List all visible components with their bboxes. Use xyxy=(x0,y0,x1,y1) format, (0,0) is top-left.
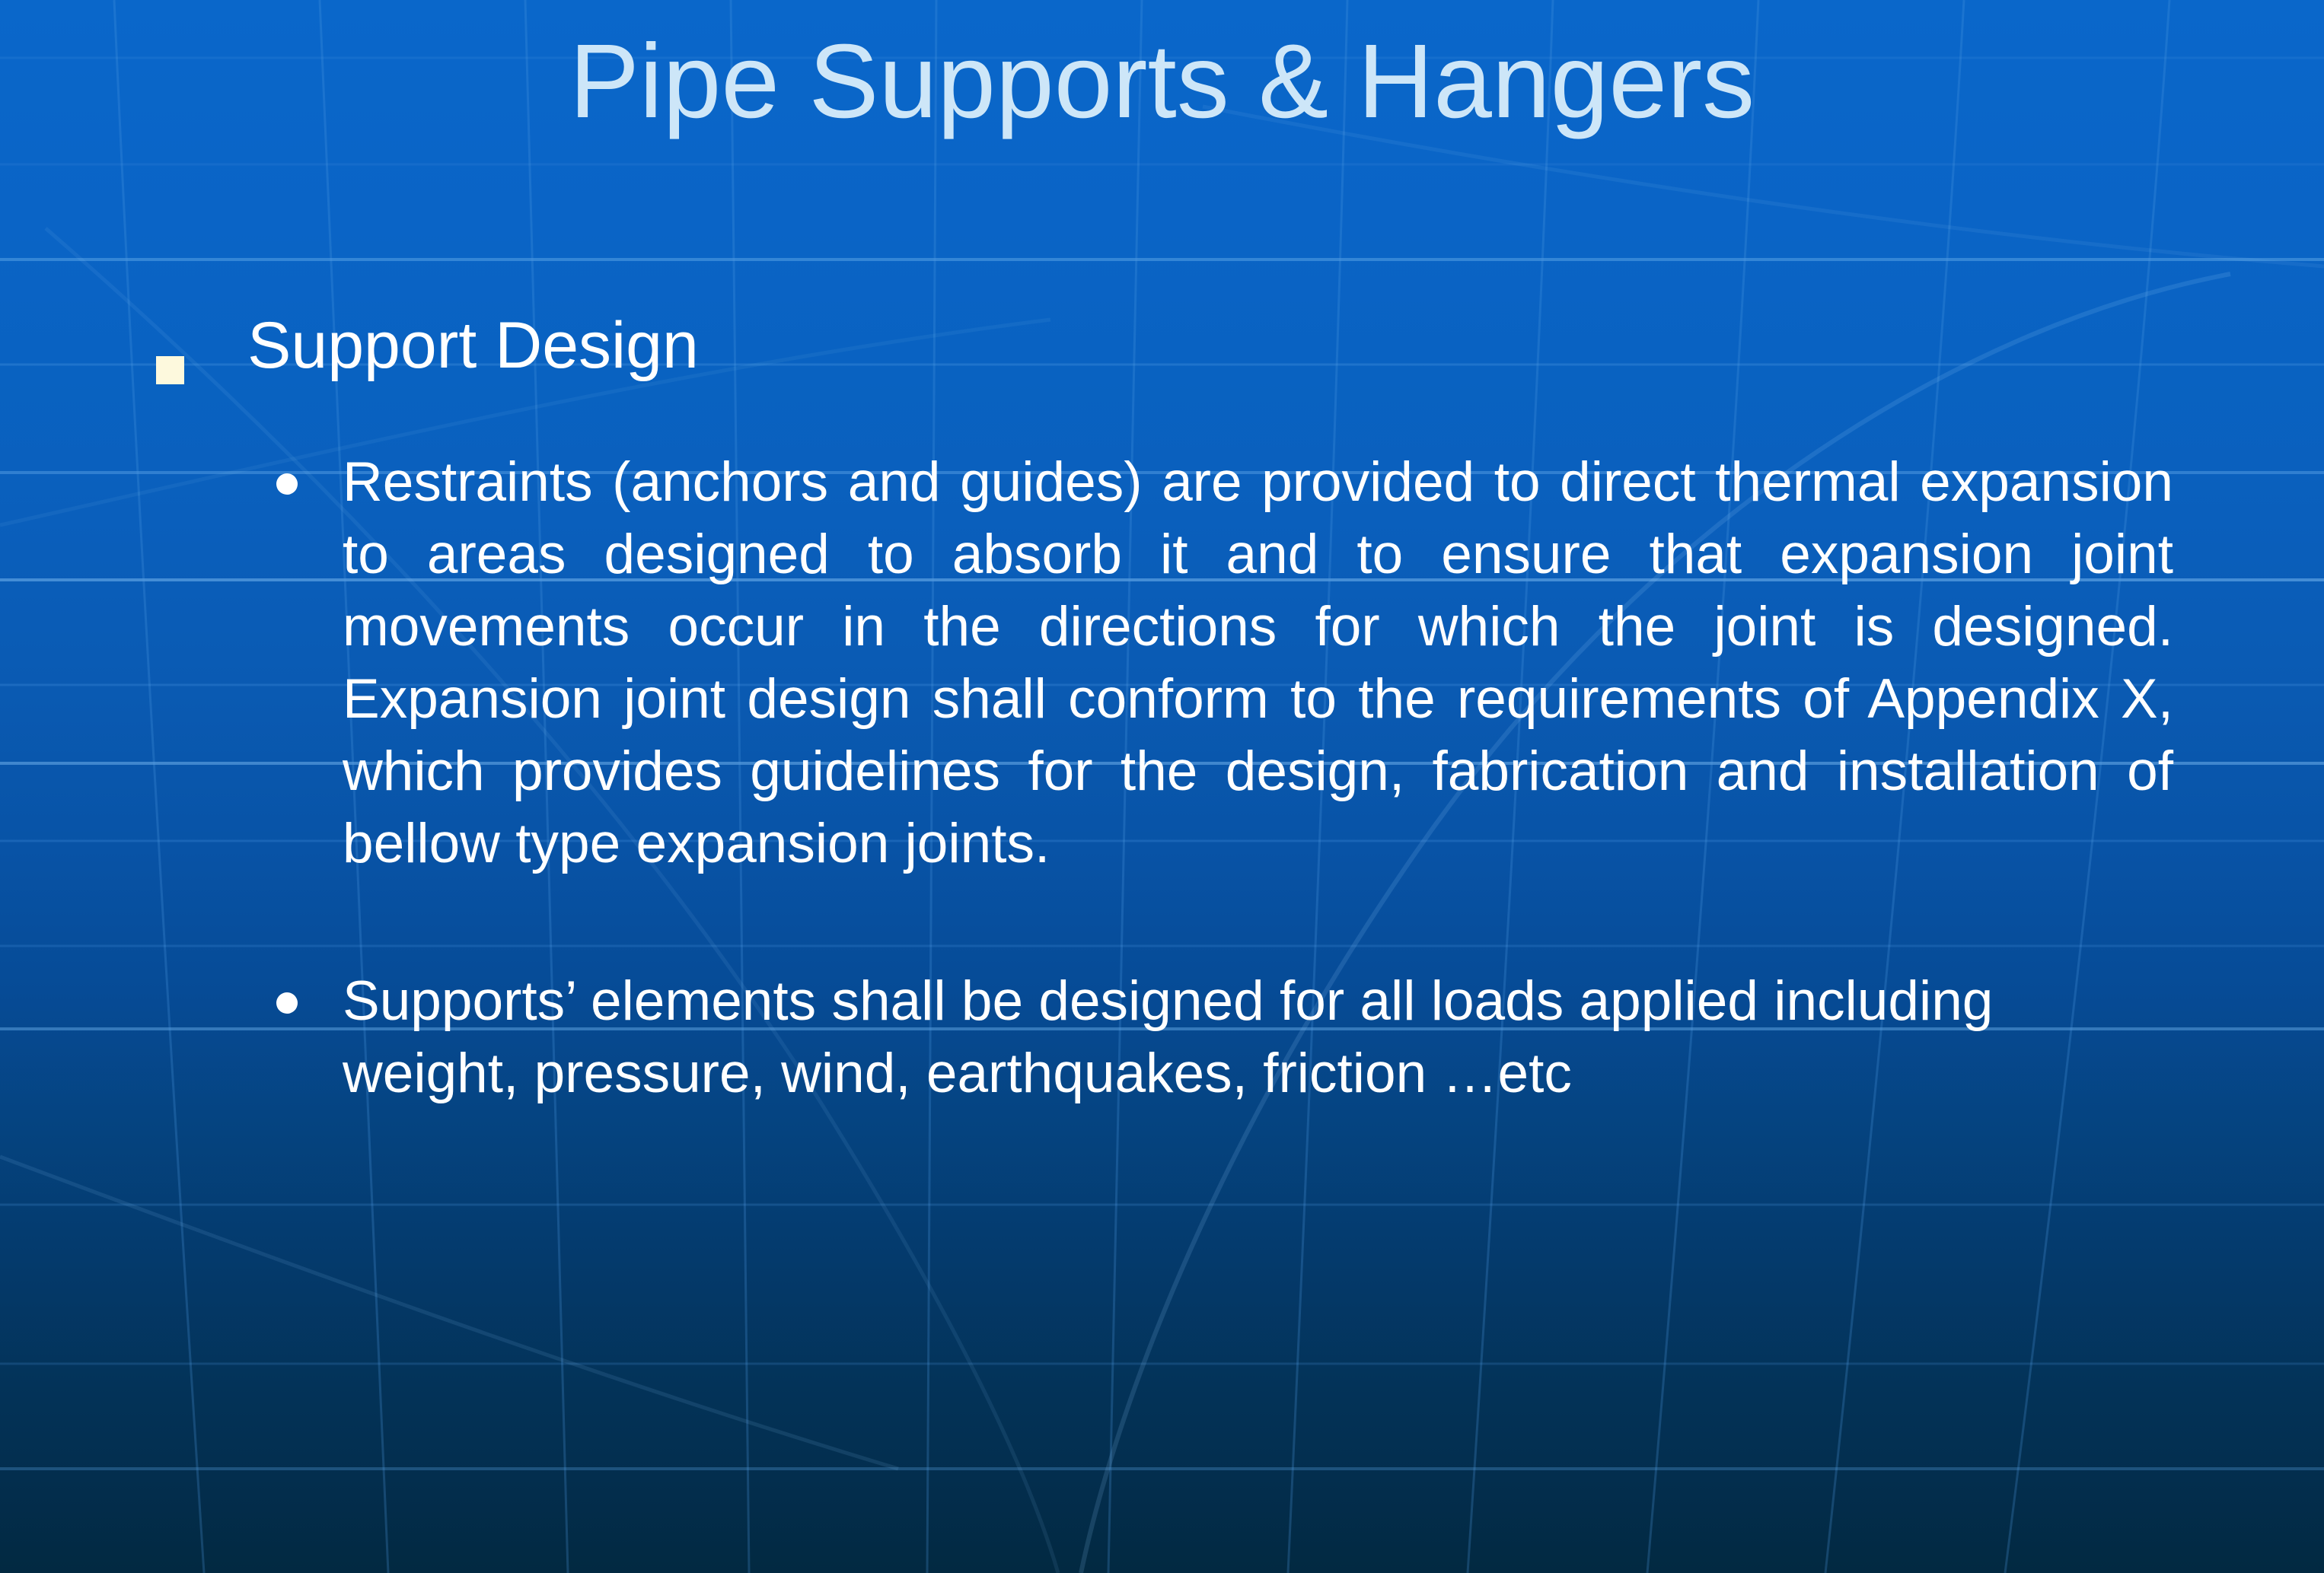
list-item-text: Supports’ elements shall be designed for… xyxy=(343,970,1993,1104)
slide-title-block: Pipe Supports & Hangers xyxy=(0,29,2324,134)
presentation-slide: Pipe Supports & Hangers Support Design R… xyxy=(0,0,2324,1573)
list-item: Restraints (anchors and guides) are prov… xyxy=(263,447,2173,880)
slide-body: Support Design Restraints (anchors and g… xyxy=(148,312,2173,1166)
page-title: Pipe Supports & Hangers xyxy=(569,29,1755,134)
round-bullet-icon xyxy=(276,992,298,1014)
body-heading-label: Support Design xyxy=(247,309,699,382)
sub-bullet-list: Restraints (anchors and guides) are prov… xyxy=(148,447,2173,1110)
body-heading-row: Support Design xyxy=(148,312,2173,380)
round-bullet-icon xyxy=(276,473,298,495)
list-item-text: Restraints (anchors and guides) are prov… xyxy=(343,451,2173,874)
list-item: Supports’ elements shall be designed for… xyxy=(263,966,2173,1110)
square-bullet-icon xyxy=(156,356,184,384)
